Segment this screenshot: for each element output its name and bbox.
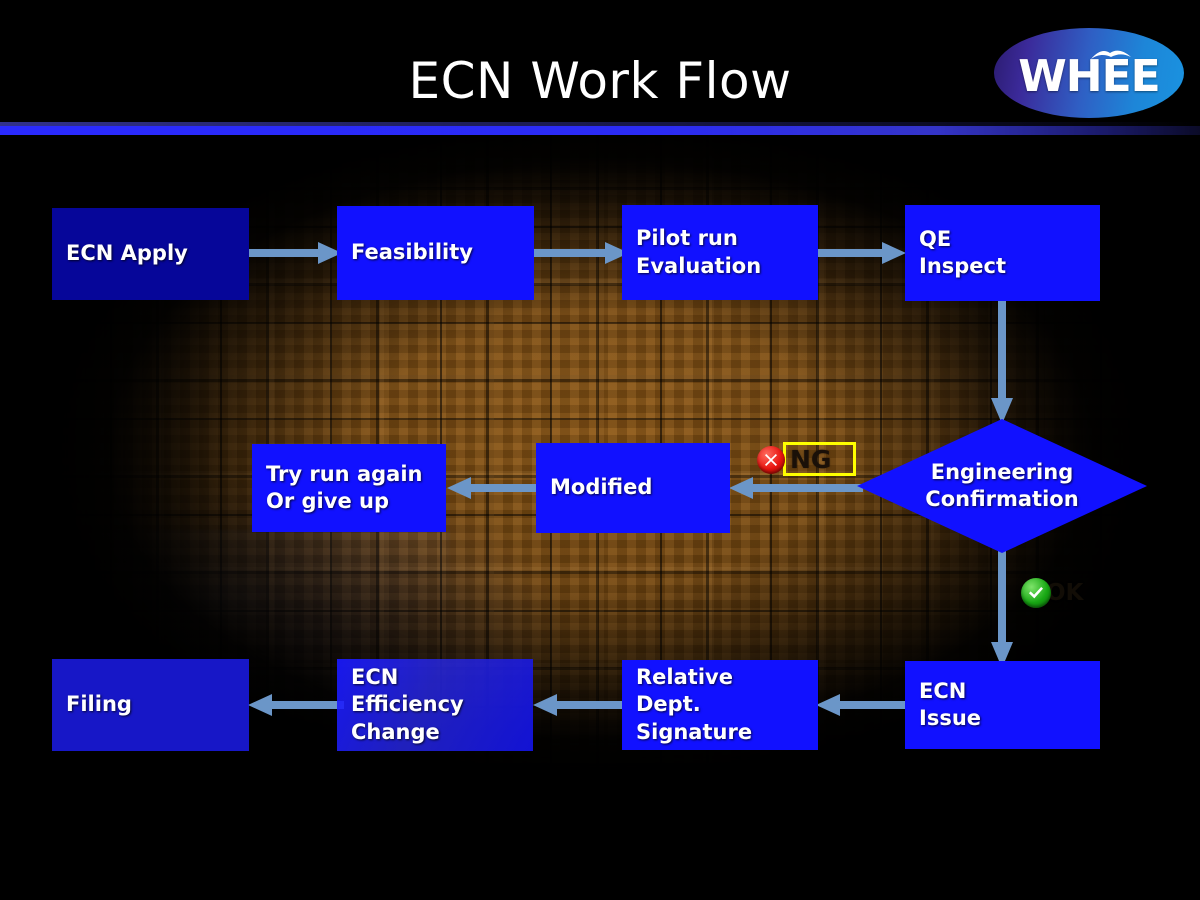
flow-node-label: Feasibility: [351, 239, 473, 266]
flow-node-label: ECN Efficiency Change: [351, 664, 464, 746]
flow-node-label: ECN Issue: [919, 678, 981, 733]
flow-node-label: Modified: [550, 474, 652, 501]
connector-pilot-run-to-qe-inspect: [816, 242, 906, 264]
ok-label: OK: [1046, 580, 1083, 606]
flow-node-engineering-confirmation[interactable]: Engineering Confirmation: [857, 419, 1147, 553]
flow-node-ecn-issue[interactable]: ECN Issue: [905, 661, 1100, 749]
connector-qe-inspect-to-engineering-confirmation: [991, 300, 1013, 424]
flow-node-label: Try run again Or give up: [266, 461, 422, 516]
flow-node-filing[interactable]: Filing: [52, 659, 249, 751]
flow-node-label: Relative Dept. Signature: [636, 664, 752, 746]
connector-ecn-issue-to-relative-dept-signature: [816, 694, 908, 716]
flow-node-feasibility[interactable]: Feasibility: [337, 206, 534, 300]
flow-node-ecn-efficiency-change[interactable]: ECN Efficiency Change: [337, 659, 533, 751]
flow-node-try-run-again[interactable]: Try run again Or give up: [252, 444, 446, 532]
flow-node-label: QE Inspect: [919, 226, 1006, 281]
bird-icon: [1090, 48, 1132, 64]
company-logo: WHEE: [994, 28, 1184, 118]
flow-node-relative-dept-signature[interactable]: Relative Dept. Signature: [622, 660, 818, 750]
slide-canvas: ECN Work Flow WHEE: [0, 0, 1200, 900]
flow-node-ecn-apply[interactable]: ECN Apply: [52, 208, 249, 300]
connector-ecn-apply-to-feasibility: [248, 242, 342, 264]
connector-ecn-efficiency-change-to-filing: [248, 694, 344, 716]
flow-node-qe-inspect[interactable]: QE Inspect: [905, 205, 1100, 301]
flow-node-pilot-run-evaluation[interactable]: Pilot run Evaluation: [622, 205, 818, 300]
title-underline-bar: [0, 126, 1200, 135]
connector-feasibility-to-pilot-run: [533, 242, 629, 264]
error-circle-icon: [757, 446, 785, 474]
connector-engineering-confirmation-to-modified: [729, 477, 863, 499]
check-circle-icon: [1021, 578, 1051, 608]
logo-wordmark: WHEE: [994, 28, 1184, 118]
connector-modified-to-try-run-again: [447, 477, 541, 499]
flow-node-label: Pilot run Evaluation: [636, 225, 761, 280]
flow-node-label: Engineering Confirmation: [857, 419, 1147, 553]
connector-relative-dept-signature-to-ecn-efficiency-change: [533, 694, 627, 716]
flow-node-label: Filing: [66, 691, 132, 718]
flow-node-label: ECN Apply: [66, 240, 188, 267]
flow-node-modified[interactable]: Modified: [536, 443, 730, 533]
ng-label: NG: [790, 445, 831, 474]
connector-engineering-confirmation-to-ecn-issue: [991, 550, 1013, 668]
